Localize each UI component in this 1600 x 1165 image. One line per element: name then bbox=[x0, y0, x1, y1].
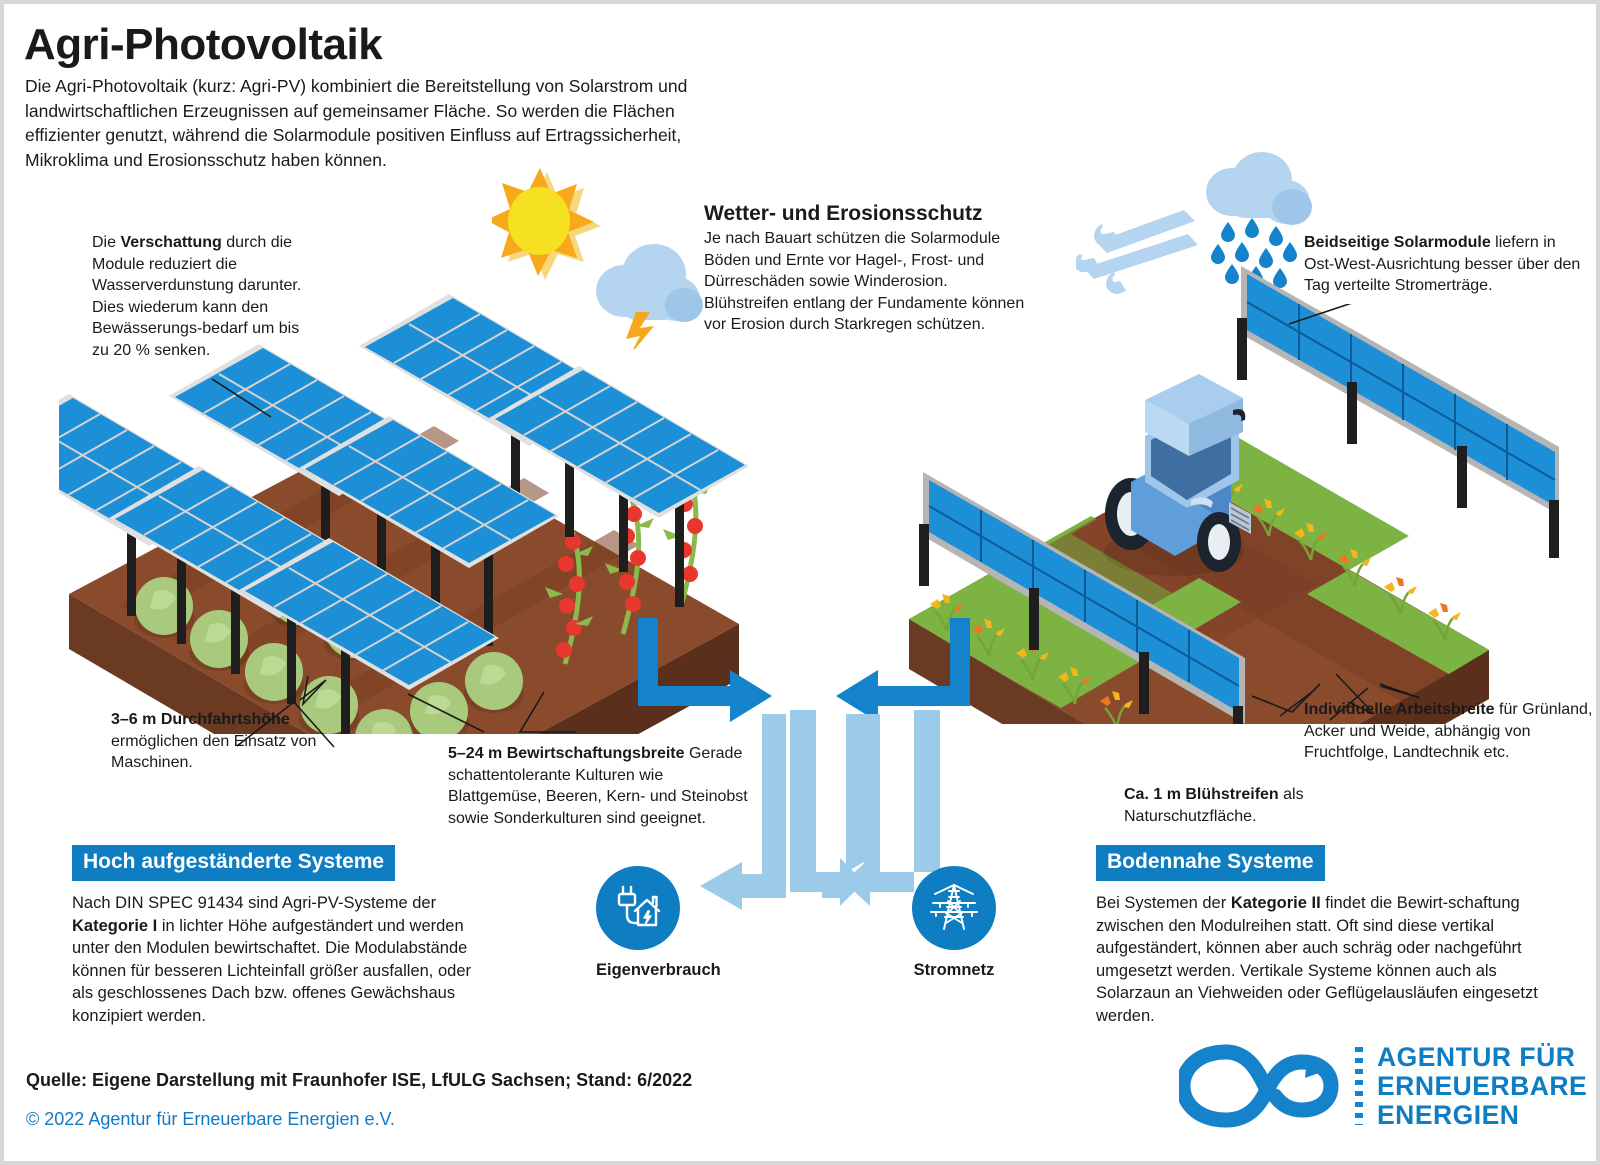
flow-item-self-consumption: Eigenverbrauch bbox=[596, 866, 680, 980]
shading-lead: Verschattung bbox=[120, 234, 221, 251]
infinity-loop-icon bbox=[1179, 1040, 1349, 1132]
shading-body: durch die Module reduziert die Wasserver… bbox=[92, 234, 301, 359]
clearance-lead: 3–6 m Durchfahrtshöhe bbox=[111, 711, 290, 728]
self-consumption-circle bbox=[596, 866, 680, 950]
logo-line-2: ERNEUERBARE bbox=[1377, 1072, 1587, 1101]
flower-strip-lead: Ca. 1 m Blühstreifen bbox=[1124, 786, 1279, 803]
annotation-clearance: 3–6 m Durchfahrtshöhe ermöglichen den Ei… bbox=[111, 709, 341, 774]
annotation-flower-strip: Ca. 1 m Blühstreifen als Naturschutzfläc… bbox=[1124, 784, 1374, 827]
flow-item-grid: Stromnetz bbox=[912, 866, 996, 980]
category-badge-ground: Bodennahe Systeme bbox=[1096, 845, 1325, 881]
annotation-working-width: 5–24 m Bewirtschaftungsbreite Gerade sch… bbox=[448, 743, 758, 829]
category-text-ground: Bei Systemen der Kategorie II findet die… bbox=[1096, 892, 1546, 1027]
page-title: Agri-Photovoltaik bbox=[24, 20, 382, 70]
cat-right-text-1: Bei Systemen der bbox=[1096, 894, 1231, 912]
intro-paragraph: Die Agri-Photovoltaik (kurz: Agri-PV) ko… bbox=[25, 74, 735, 172]
individual-width-lead: Individuelle Arbeitsbreite bbox=[1304, 701, 1495, 718]
annotation-shading: Die Verschattung durch die Module reduzi… bbox=[92, 232, 304, 361]
annotation-individual-width: Individuelle Arbeitsbreite für Grünland,… bbox=[1304, 699, 1594, 764]
bifacial-lead: Beidseitige Solarmodule bbox=[1304, 234, 1491, 251]
logo-line-1: AGENTUR FÜR bbox=[1377, 1043, 1587, 1072]
cat-right-text-2: findet die Bewirt-schaftung zwischen den… bbox=[1096, 894, 1538, 1025]
cat-left-text-1: Nach DIN SPEC 91434 sind Agri-PV-Systeme… bbox=[72, 894, 436, 912]
flow-label-self-consumption: Eigenverbrauch bbox=[596, 961, 680, 980]
category-text-elevated: Nach DIN SPEC 91434 sind Agri-PV-Systeme… bbox=[72, 892, 482, 1027]
shading-prefix: Die bbox=[92, 234, 120, 251]
category-block-elevated: Hoch aufgeständerte Systeme Nach DIN SPE… bbox=[72, 845, 482, 1027]
annotation-weather-title: Wetter- und Erosionsschutz bbox=[704, 200, 1044, 227]
logo-wordmark: AGENTUR FÜR ERNEUERBARE ENERGIEN bbox=[1377, 1043, 1587, 1130]
cat-right-bold: Kategorie II bbox=[1231, 894, 1321, 912]
plug-house-icon bbox=[611, 881, 665, 935]
annotation-weather-body: Je nach Bauart schützen die Solarmodule … bbox=[704, 228, 1034, 336]
working-width-lead: 5–24 m Bewirtschaftungsbreite bbox=[448, 745, 685, 762]
infographic-page: Agri-Photovoltaik Die Agri-Photovoltaik … bbox=[0, 0, 1600, 1165]
grid-circle bbox=[912, 866, 996, 950]
clearance-body: ermöglichen den Einsatz von Maschinen. bbox=[111, 733, 316, 772]
category-badge-elevated: Hoch aufgeständerte Systeme bbox=[72, 845, 395, 881]
power-pylon-icon bbox=[927, 881, 981, 935]
agency-logo: AGENTUR FÜR ERNEUERBARE ENERGIEN bbox=[1179, 1040, 1587, 1132]
cat-left-bold: Kategorie I bbox=[72, 917, 157, 935]
flow-label-grid: Stromnetz bbox=[912, 961, 996, 980]
tractor bbox=[1104, 374, 1251, 576]
source-line: Quelle: Eigene Darstellung mit Fraunhofe… bbox=[26, 1070, 692, 1091]
copyright-line: © 2022 Agentur für Erneuerbare Energien … bbox=[26, 1109, 395, 1130]
category-block-ground: Bodennahe Systeme Bei Systemen der Kateg… bbox=[1096, 845, 1546, 1027]
logo-divider bbox=[1355, 1047, 1363, 1125]
logo-line-3: ENERGIEN bbox=[1377, 1101, 1587, 1130]
annotation-bifacial: Beidseitige Solarmodule liefern in Ost-W… bbox=[1304, 232, 1584, 297]
